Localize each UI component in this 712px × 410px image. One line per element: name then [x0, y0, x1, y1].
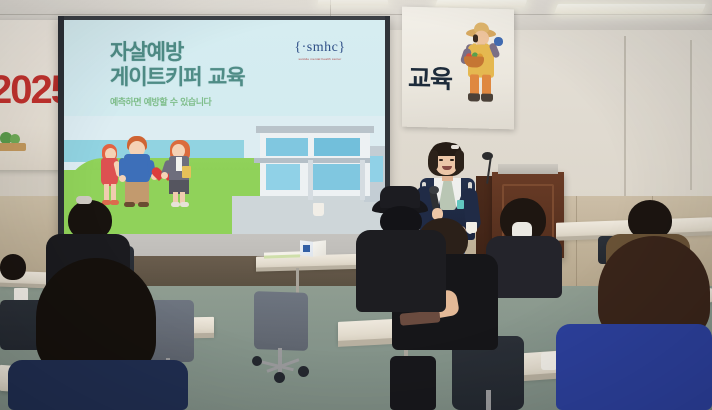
- slide-logo: {·smhc} suicide mental health center: [292, 40, 348, 68]
- slide-logo-mark: {·smhc}: [292, 40, 348, 56]
- ceiling-tile-seam: [0, 14, 712, 15]
- classroom-photo-scene: 2025 교육: [0, 0, 712, 410]
- slide-building-window: [310, 164, 360, 190]
- paper-cup: [541, 352, 557, 370]
- slide-building-window: [266, 138, 308, 156]
- tent-card-logo: [303, 245, 310, 252]
- table-tent-card: [300, 241, 326, 256]
- slide-building-roof: [256, 126, 374, 133]
- attendee-far-left-head: [0, 254, 26, 280]
- banner-left-illustration: [0, 132, 30, 154]
- banner-right-text: 교육: [408, 59, 452, 96]
- ceiling-light-fixture: [318, 0, 388, 5]
- chair-caster: [252, 356, 262, 366]
- chair-caster: [298, 366, 309, 377]
- presentation-slide: 자살예방 게이트키퍼 교육 예측하면 예방할 수 있습니다 {·smhc} su…: [64, 20, 385, 234]
- banner-left: 2025: [0, 20, 60, 170]
- slide-building-canopy: [254, 158, 372, 163]
- hair-clip: [76, 196, 92, 204]
- bag-under-table: [390, 356, 436, 410]
- ceiling-light-fixture: [554, 4, 706, 13]
- slide-building-window: [266, 164, 300, 190]
- presenter-name-badge: [457, 200, 464, 209]
- chair: [254, 291, 308, 351]
- paper-cup: [466, 222, 477, 233]
- slide-logo-subtext: suicide mental health center: [292, 57, 348, 61]
- banner-right: 교육: [402, 7, 514, 130]
- paper-cup: [313, 203, 324, 216]
- banner-left-year: 2025: [0, 68, 60, 113]
- slide-building-column: [360, 160, 365, 200]
- slide-building-window: [370, 156, 383, 182]
- handheld-microphone-head: [429, 186, 439, 194]
- chair-post: [486, 390, 491, 410]
- attendee-front-right-body: [556, 324, 712, 410]
- ceiling-light-fixture: [435, 0, 527, 7]
- podium-top-plate: [498, 164, 558, 174]
- slide-pavement: [232, 196, 385, 234]
- slide-subtitle: 예측하면 예방할 수 있습니다: [110, 95, 211, 108]
- bucket-hat-crown: [380, 186, 420, 208]
- slide-title: 자살예방 게이트키퍼 교육: [110, 40, 245, 90]
- attendee-center-hat-body: [356, 230, 446, 312]
- slide-building-column: [308, 160, 313, 200]
- hair-clip: [451, 145, 459, 149]
- wainscot-seam: [576, 196, 577, 286]
- wall-seam: [624, 36, 626, 196]
- slide-title-line2: 게이트키퍼 교육: [110, 65, 245, 90]
- slide-building-window: [314, 138, 360, 156]
- attendee-front-left-head: [36, 258, 156, 376]
- wall-seam: [690, 40, 692, 190]
- slide-title-line1: 자살예방: [110, 40, 245, 65]
- chair-caster: [274, 372, 285, 383]
- attendee-front-left-body: [8, 360, 188, 410]
